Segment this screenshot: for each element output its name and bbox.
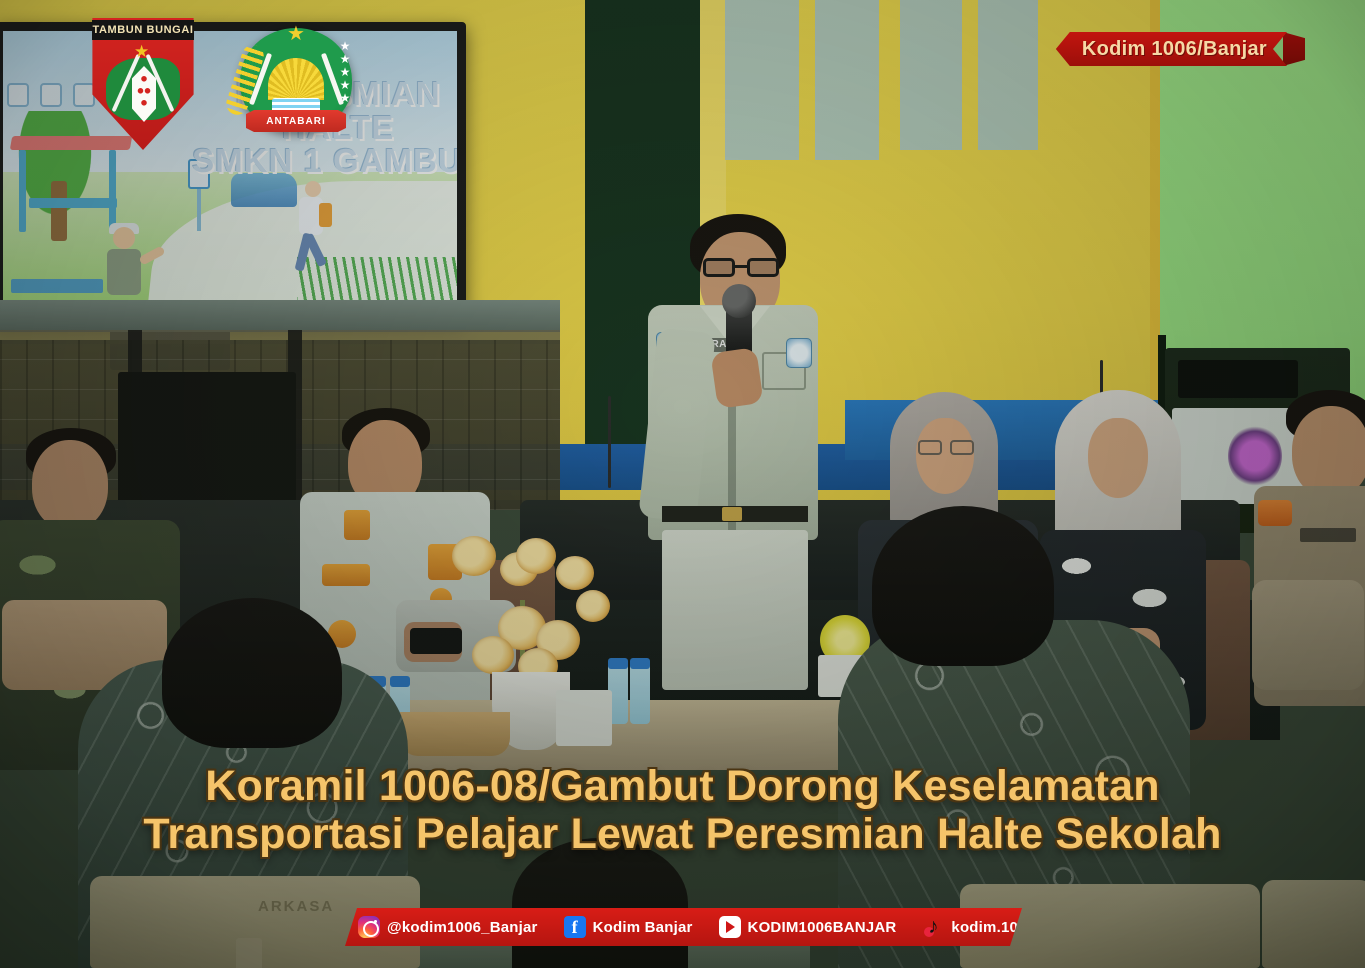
person-arm [1252, 580, 1364, 690]
emblem-top-star-icon: ★ [287, 24, 305, 44]
youtube-handle: KODIM1006BANJAR [748, 919, 897, 936]
officer-body [107, 249, 141, 295]
officer-nametag [1300, 528, 1356, 542]
lens [747, 258, 779, 277]
poster-canvas: PERESMIAN HALTE SMKN 1 GAMBUT [0, 0, 1365, 968]
slide-running-student [291, 181, 331, 277]
door-glass-panel [725, 0, 799, 160]
shelter-post [19, 150, 26, 232]
kodim-badge-label: Kodim 1006/Banjar [1082, 38, 1267, 61]
kodim-badge: Kodim 1006/Banjar [1056, 32, 1287, 66]
tiktok-icon: ♪ [922, 916, 944, 938]
tissue-box [556, 690, 612, 746]
emblem-ribbon: ANTABARI [246, 110, 346, 132]
social-media-bar: @kodim1006_Banjar f Kodim Banjar KODIM10… [345, 908, 1022, 946]
social-item-instagram[interactable]: @kodim1006_Banjar [345, 916, 551, 938]
slide-bus-shelter [11, 136, 131, 231]
foreground-head-right [872, 506, 1054, 666]
av-black-box [1178, 360, 1298, 398]
instagram-handle: @kodim1006_Banjar [387, 919, 538, 936]
person-face [916, 418, 974, 494]
eyeglasses [703, 258, 779, 277]
chair-brand-label: ARKASA [258, 898, 334, 915]
shield-banner-text: TAMBUN BUNGAI [92, 24, 193, 36]
shield-banner: TAMBUN BUNGAI [92, 20, 194, 40]
shoulder-patch [344, 510, 370, 540]
person-head [32, 440, 108, 530]
audience-chair [1262, 880, 1365, 968]
officer-head [113, 227, 135, 249]
speaker-trousers [662, 530, 808, 690]
slide-caption-bar [11, 279, 103, 293]
eyeglasses [918, 440, 974, 455]
orchid-flower [516, 538, 556, 574]
orchid-flower [576, 590, 610, 622]
student-backpack [319, 203, 332, 227]
display-screen: PERESMIAN HALTE SMKN 1 GAMBUT [3, 31, 457, 313]
slide-logo-icon [40, 83, 62, 107]
snack-bowl [400, 712, 510, 756]
bottle-cap [390, 676, 410, 687]
lens [950, 440, 974, 455]
lens [918, 440, 942, 455]
person-face [1088, 418, 1148, 498]
microphone-head [722, 284, 756, 318]
chair-notch [236, 938, 262, 968]
facebook-handle: Kodim Banjar [593, 919, 693, 936]
social-item-youtube[interactable]: KODIM1006BANJAR [706, 916, 910, 938]
mobile-phone [410, 628, 462, 654]
shoulder-badge [786, 338, 812, 368]
door-glass-panel [900, 0, 962, 150]
headline-line-2: Transportasi Pelajar Lewat Peresmian Hal… [30, 810, 1335, 858]
antabari-emblem-icon: ★★★★★ ★ ANTABARI [232, 22, 360, 146]
lens [703, 258, 735, 277]
water-bottle [630, 662, 650, 724]
shield-ornament-pattern [136, 74, 152, 114]
social-item-facebook[interactable]: f Kodim Banjar [551, 916, 706, 938]
foreground-head-left [162, 598, 342, 748]
bottle-cap [630, 658, 650, 669]
shelter-bench [29, 198, 117, 208]
orchid-flower [452, 536, 496, 576]
shield-star-icon: ★ [134, 43, 149, 60]
cable [608, 396, 611, 488]
headline: Koramil 1006-08/Gambut Dorong Keselamata… [0, 762, 1365, 858]
black-cabinet [118, 372, 296, 512]
backdrop-rail [0, 300, 560, 332]
orchid-flower [472, 636, 514, 674]
headline-line-1: Koramil 1006-08/Gambut Dorong Keselamata… [205, 762, 1160, 810]
shelter-post [109, 150, 116, 232]
emblem-ribbon-text: ANTABARI [266, 116, 325, 127]
student-head [305, 181, 321, 197]
shoulder-patch [1258, 500, 1292, 526]
belt-buckle [722, 507, 742, 521]
speaker-hand [710, 347, 763, 409]
person-head [1292, 406, 1365, 498]
slide-logo-icon [7, 83, 29, 107]
youtube-icon [719, 916, 741, 938]
stage-light [1228, 425, 1282, 487]
orchid-flower [556, 556, 594, 590]
chest-patch [322, 564, 370, 586]
slide-sign-pole [197, 189, 201, 231]
facebook-icon: f [564, 916, 586, 938]
bottle-cap [608, 658, 628, 669]
instagram-icon [358, 916, 380, 938]
glasses-bridge [735, 265, 747, 268]
door-glass-panel [978, 0, 1038, 150]
slide-title-line2: SMKN 1 GAMBUT [188, 144, 457, 178]
door-glass-panel [815, 0, 879, 160]
tambun-bungai-shield-icon: ★ TAMBUN BUNGAI [88, 18, 198, 150]
emblem-stars: ★★★★★ [332, 40, 358, 114]
